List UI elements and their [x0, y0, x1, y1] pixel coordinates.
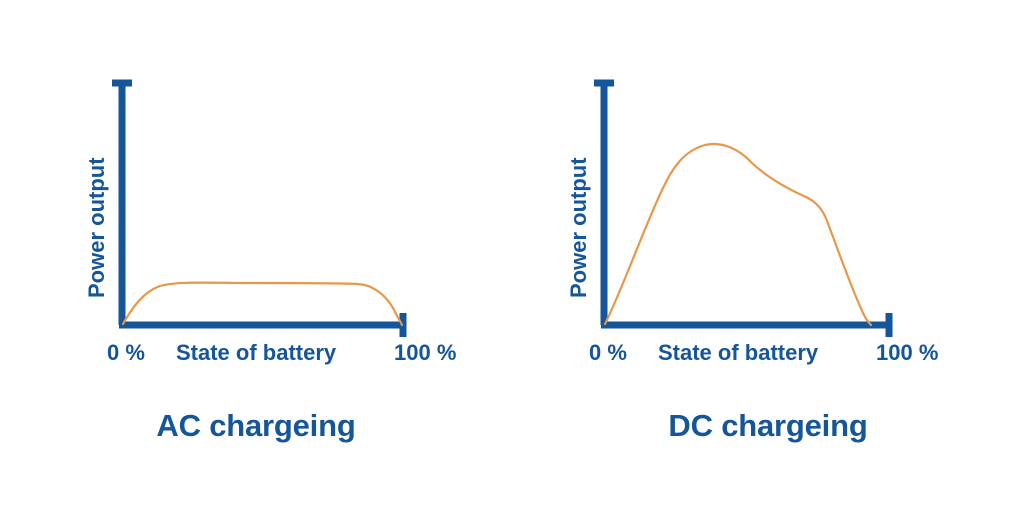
ac-x-axis-title: State of battery: [176, 340, 337, 365]
ac-y-axis-title: Power output: [84, 157, 109, 298]
charging-comparison-figure: Power output 0 % State of battery 100 % …: [0, 0, 1024, 528]
dc-x-axis-title: State of battery: [658, 340, 819, 365]
dc-power-curve: [605, 144, 871, 325]
panel-ac-charging: Power output 0 % State of battery 100 % …: [0, 0, 512, 528]
dc-x-tick-right: 100 %: [876, 340, 938, 365]
ac-power-curve: [123, 283, 402, 325]
dc-caption: DC chargeing: [512, 408, 1024, 444]
panel-dc-charging: Power output 0 % State of battery 100 % …: [512, 0, 1024, 528]
dc-y-axis-title: Power output: [566, 157, 591, 298]
dc-x-tick-left: 0 %: [589, 340, 627, 365]
ac-chart: Power output 0 % State of battery 100 %: [0, 0, 512, 400]
ac-caption: AC chargeing: [0, 408, 512, 444]
ac-x-tick-right: 100 %: [394, 340, 456, 365]
ac-x-tick-left: 0 %: [107, 340, 145, 365]
dc-chart: Power output 0 % State of battery 100 %: [512, 0, 1024, 400]
